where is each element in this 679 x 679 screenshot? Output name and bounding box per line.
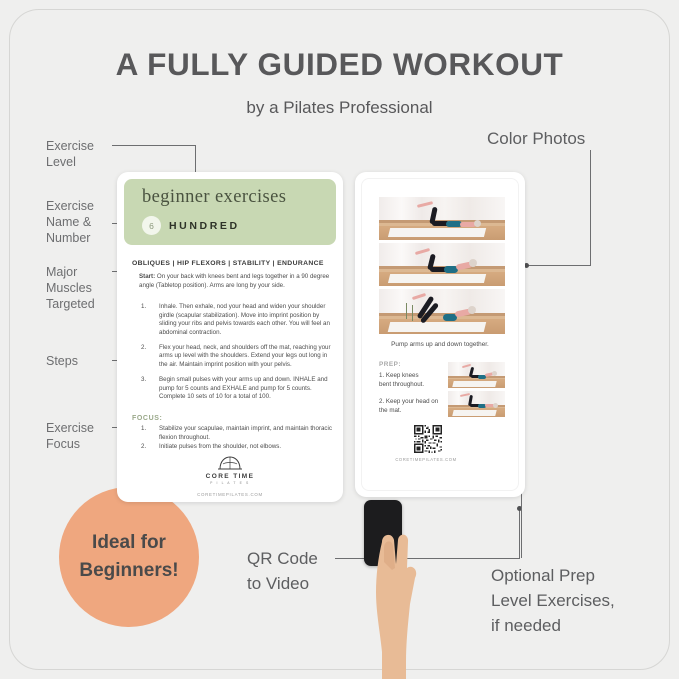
annotation-exercise-name-number: Exercise Name & Number bbox=[46, 198, 118, 246]
exercise-instruction-card[interactable]: beginner exercises 6 HUNDRED OBLIQUES | … bbox=[117, 172, 343, 502]
start-text: On your back with knees bent and legs to… bbox=[139, 273, 329, 289]
annotation-color-photos: Color Photos bbox=[487, 126, 585, 151]
list-item-text: Begin small pulses with your arms up and… bbox=[159, 376, 328, 400]
beginner-exercises-label: beginner exercises bbox=[142, 187, 286, 208]
connector-exercise-level-h bbox=[112, 145, 196, 146]
list-item-number: 1. bbox=[141, 303, 146, 312]
badge-line-1: Ideal for bbox=[92, 529, 166, 557]
list-item-text: Inhale. Then exhale, nod your head and w… bbox=[159, 303, 330, 336]
connector-qr-h1 bbox=[335, 558, 367, 559]
list-item-number: 3. bbox=[141, 376, 146, 385]
list-item: 2.Initiate pulses from the shoulder, not… bbox=[139, 443, 335, 452]
list-item-number: 2. bbox=[141, 344, 146, 353]
ideal-for-beginners-badge: Ideal for Beginners! bbox=[59, 487, 199, 627]
steps-list: 1.Inhale. Then exhale, nod your head and… bbox=[139, 303, 335, 408]
logo-name: CORE TIME bbox=[117, 473, 343, 480]
page-subtitle: by a Pilates Professional bbox=[0, 98, 679, 118]
start-instruction: Start: On your back with knees bent and … bbox=[139, 273, 335, 290]
list-item: 1.Stabilize your scapulae, maintain impr… bbox=[139, 425, 335, 442]
photos-caption: Pump arms up and down together. bbox=[362, 341, 518, 348]
logo-sub: P I L A T E S bbox=[117, 481, 343, 485]
photos-card-inner: Pump arms up and down together. PREP: 1.… bbox=[361, 178, 519, 491]
brand-logo: CORE TIME P I L A T E S CORETIMEPILATES.… bbox=[117, 455, 343, 497]
list-item-number: 1. bbox=[141, 425, 146, 434]
poster-canvas: A FULLY GUIDED WORKOUT by a Pilates Prof… bbox=[0, 0, 679, 679]
exercise-photo-3 bbox=[379, 289, 505, 334]
connector-color-photos-v bbox=[590, 150, 591, 265]
list-item: 3.Begin small pulses with your arms up a… bbox=[139, 376, 335, 402]
exercise-photos-card[interactable]: Pump arms up and down together. PREP: 1.… bbox=[355, 172, 525, 497]
exercise-number-badge: 6 bbox=[142, 216, 161, 235]
start-label: Start: bbox=[139, 273, 155, 280]
prep-photo-2 bbox=[448, 391, 505, 417]
annotation-qr-code: QR Code to Video bbox=[247, 546, 318, 596]
annotation-major-muscles: Major Muscles Targeted bbox=[46, 264, 118, 312]
list-item-text: Stabilize your scapulae, maintain imprin… bbox=[159, 425, 332, 441]
annotation-exercise-focus: Exercise Focus bbox=[46, 420, 118, 452]
qr-code[interactable] bbox=[414, 425, 442, 453]
hand-illustration bbox=[372, 512, 424, 679]
prep-label: PREP: bbox=[379, 361, 401, 368]
annotation-steps: Steps bbox=[46, 353, 118, 369]
connector-color-photos-h bbox=[527, 265, 591, 266]
prep-photo-1 bbox=[448, 362, 505, 388]
list-item: 2.Flex your head, neck, and shoulders of… bbox=[139, 344, 335, 370]
annotation-optional-prep: Optional Prep Level Exercises, if needed bbox=[491, 563, 615, 638]
list-item-number: 2. bbox=[141, 443, 146, 452]
focus-list: 1.Stabilize your scapulae, maintain impr… bbox=[139, 425, 335, 453]
exercise-photo-2 bbox=[379, 243, 505, 286]
muscles-targeted-label: OBLIQUES | HIP FLEXORS | STABILITY | END… bbox=[132, 260, 332, 267]
page-title: A FULLY GUIDED WORKOUT bbox=[0, 46, 679, 83]
list-item: 1.Inhale. Then exhale, nod your head and… bbox=[139, 303, 335, 337]
connector-qr-v bbox=[519, 510, 520, 558]
card-green-header: beginner exercises 6 HUNDRED bbox=[124, 179, 336, 245]
logo-url: CORETIMEPILATES.COM bbox=[117, 492, 343, 497]
focus-label: FOCUS: bbox=[132, 415, 162, 422]
annotation-exercise-level: Exercise Level bbox=[46, 138, 116, 170]
prep-item-1: 1. Keep knees bent throughout. bbox=[379, 371, 441, 389]
exercise-name-label: HUNDRED bbox=[169, 220, 240, 232]
core-time-logo-icon bbox=[217, 455, 243, 472]
prep-item-2: 2. Keep your head on the mat. bbox=[379, 397, 445, 415]
exercise-photo-1 bbox=[379, 197, 505, 240]
badge-line-2: Beginners! bbox=[79, 557, 178, 585]
list-item-text: Flex your head, neck, and shoulders off … bbox=[159, 344, 331, 368]
list-item-text: Initiate pulses from the shoulder, not e… bbox=[159, 443, 281, 450]
qr-url-label: CORETIMEPILATES.COM bbox=[366, 457, 486, 462]
